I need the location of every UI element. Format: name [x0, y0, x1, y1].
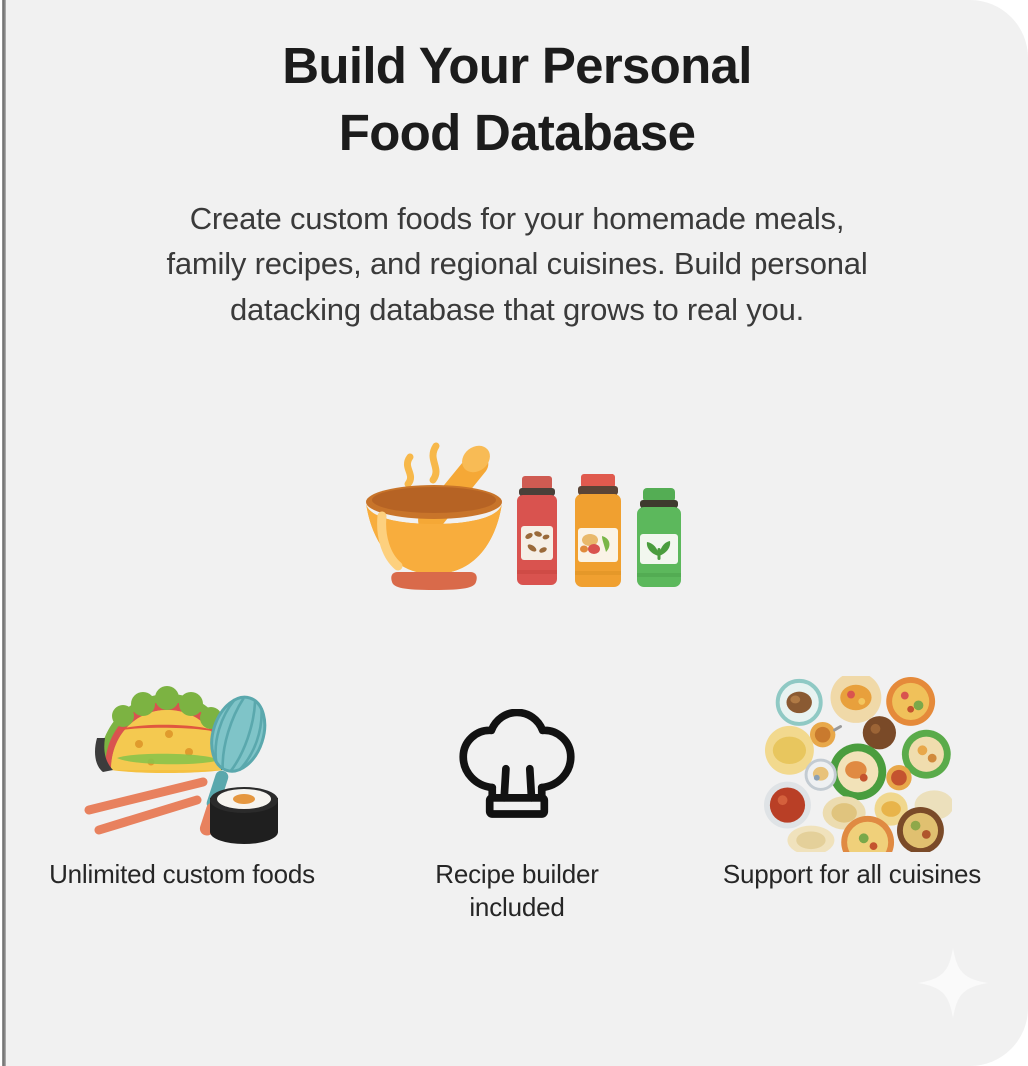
taco-whisk-chopsticks-sushi-icon — [77, 676, 287, 852]
feature-label-line-1: Unlimited custom foods — [49, 859, 315, 889]
green-spice-bottle — [637, 488, 681, 587]
feature-label: Support for all cuisines — [723, 858, 981, 891]
feature-label-line-1: Recipe builder — [435, 859, 598, 889]
mortar-and-pestle-icon — [364, 424, 514, 599]
page-subtitle-line-3: datacking database that grows to real yo… — [6, 287, 1028, 332]
feature-label-line-1: Support for all cuisines — [723, 859, 981, 889]
page-title-line-2: Food Database — [6, 99, 1028, 166]
page-subtitle: Create custom foods for your homemade me… — [6, 196, 1028, 332]
page-title-line-1: Build Your Personal — [282, 37, 751, 94]
feature-support-for-all-cuisines: Support for all cuisines — [692, 676, 1012, 891]
feature-recipe-builder-included: Recipe builder included — [357, 676, 677, 925]
red-spice-bottle — [517, 476, 557, 585]
chef-hat-icon — [453, 676, 581, 852]
feature-list: Unlimited custom foods — [22, 676, 1012, 936]
feature-label: Unlimited custom foods — [49, 858, 315, 891]
hero-illustration — [364, 424, 684, 604]
device-left-edge — [2, 0, 6, 1066]
feature-label: Recipe builder included — [435, 858, 598, 925]
spice-bottles-icon — [510, 474, 686, 599]
page-title: Build Your Personal Food Database — [6, 32, 1028, 167]
feature-label-line-2: included — [435, 891, 598, 924]
feature-unlimited-custom-foods: Unlimited custom foods — [22, 676, 342, 891]
orange-spice-bottle — [575, 474, 621, 587]
assorted-dishes-cluster-icon — [752, 676, 952, 852]
four-point-sparkle-icon — [914, 944, 992, 1022]
screenshot-root: Build Your Personal Food Database Create… — [0, 0, 1028, 1066]
page-subtitle-line-1: Create custom foods for your homemade me… — [6, 196, 1028, 241]
feature-card: Build Your Personal Food Database Create… — [6, 0, 1028, 1066]
page-subtitle-line-2: family recipes, and regional cuisines. B… — [6, 241, 1028, 286]
